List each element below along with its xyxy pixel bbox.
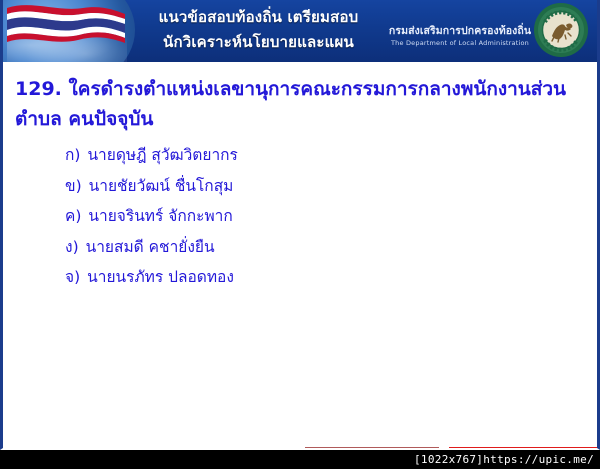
screenshot-root: แนวข้อสอบท้องถิ่น เตรียมสอบ นักวิเคราะห์… (0, 0, 600, 469)
choice-item-c[interactable]: ค)นายจรินทร์ จักกะพาก (65, 201, 565, 232)
department-emblem-icon (533, 2, 589, 58)
choice-label-e: จ) (65, 268, 80, 286)
header-title-line2: นักวิเคราะห์นโยบายและแผน (131, 30, 386, 55)
choice-item-d[interactable]: ง)นายสมดี คชายั่งยืน (65, 232, 565, 263)
footer-text: [1022x767]https://upic.me/ (414, 453, 594, 466)
slide-card: แนวข้อสอบท้องถิ่น เตรียมสอบ นักวิเคราะห์… (0, 0, 600, 450)
choice-label-a: ก) (65, 146, 80, 164)
image-footer-bar: [1022x767]https://upic.me/ (0, 450, 600, 469)
choice-label-b: ข) (65, 177, 82, 195)
choice-item-b[interactable]: ข)นายชัยวัฒน์ ชื่นโกสุม (65, 171, 565, 202)
choice-text-b: นายชัยวัฒน์ ชื่นโกสุม (89, 177, 234, 195)
header-title-line1: แนวข้อสอบท้องถิ่น เตรียมสอบ (159, 8, 359, 26)
choice-label-d: ง) (65, 238, 79, 256)
slide-body: 129. ใครดำรงตำแหน่งเลขานุการคณะกรรมการกล… (3, 62, 597, 450)
choice-text-c: นายจรินทร์ จักกะพาก (88, 207, 232, 225)
choice-item-e[interactable]: จ)นายนรภัทร ปลอดทอง (65, 262, 565, 293)
choice-text-a: นายดุษฎี สุวัฒวิตยากร (87, 146, 237, 164)
thai-flag-icon (5, 2, 127, 44)
choice-item-a[interactable]: ก)นายดุษฎี สุวัฒวิตยากร (65, 140, 565, 171)
department-name-thai: กรมส่งเสริมการปกครองท้องถิ่น (385, 25, 535, 38)
choice-text-d: นายสมดี คชายั่งยืน (86, 238, 215, 256)
department-name: กรมส่งเสริมการปกครองท้องถิ่น The Departm… (385, 25, 535, 48)
choice-list: ก)นายดุษฎี สุวัฒวิตยากร ข)นายชัยวัฒน์ ชื… (65, 140, 565, 293)
header-title: แนวข้อสอบท้องถิ่น เตรียมสอบ นักวิเคราะห์… (131, 5, 386, 55)
question-text: 129. ใครดำรงตำแหน่งเลขานุการคณะกรรมการกล… (15, 74, 585, 134)
department-name-english: The Department of Local Administration (385, 38, 535, 48)
header-banner: แนวข้อสอบท้องถิ่น เตรียมสอบ นักวิเคราะห์… (3, 0, 597, 62)
choice-label-c: ค) (65, 207, 81, 225)
choice-text-e: นายนรภัทร ปลอดทอง (87, 268, 234, 286)
